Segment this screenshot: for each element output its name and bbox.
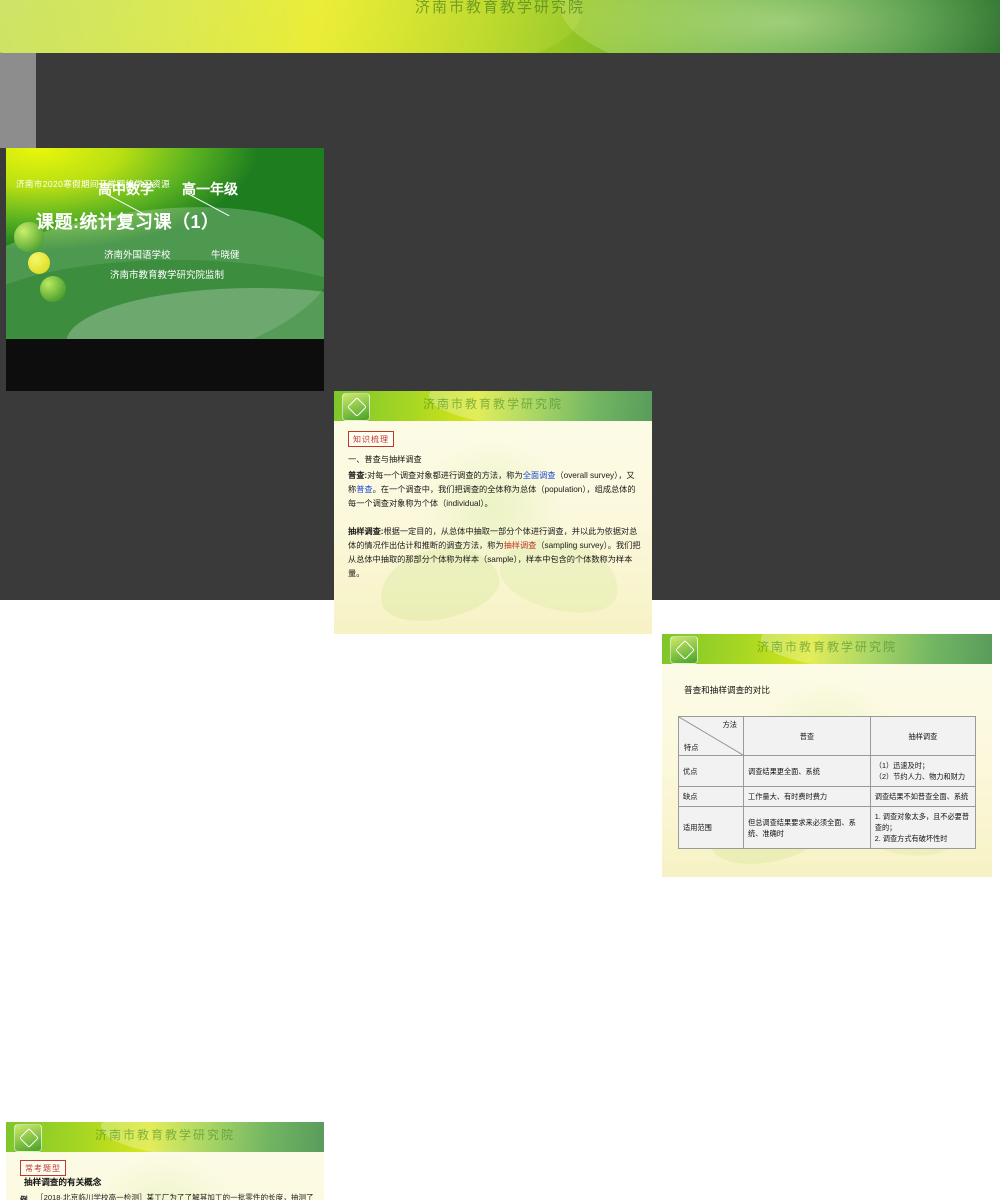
slide-thumbnail-4[interactable]: 济南市教育教学研究院 常考题型 抽样调查的有关概念 例 ［2018·北京临川学校… bbox=[6, 1122, 324, 1200]
slide3-logo-icon bbox=[670, 636, 698, 664]
workspace-strip bbox=[0, 53, 1000, 148]
slide4-section-tag: 常考题型 bbox=[20, 1160, 66, 1176]
slide1-subject: 高中数学 bbox=[98, 179, 154, 199]
top-banner: 济南市教育教学研究院 bbox=[0, 0, 1000, 53]
table-row: 适用范围 但总调查结果要求来必须全面、系统、准确时 1. 调查对象太多，且不必要… bbox=[679, 807, 976, 849]
slide2-heading: 一、普查与抽样调查 bbox=[348, 453, 640, 467]
slide-thumbnail-3[interactable]: 济南市教育教学研究院 普查和抽样调查的对比 方法 特点 普查 抽样调查 优点 调… bbox=[662, 634, 992, 877]
slide4-heading: 抽样调查的有关概念 bbox=[24, 1176, 101, 1188]
table-col-header-2: 抽样调查 bbox=[870, 717, 975, 756]
slide2-paragraph-1: 普查:对每一个调查对象都进行调查的方法，称为全面调查（overall surve… bbox=[348, 469, 642, 511]
slide1-author-name: 牛晓健 bbox=[211, 247, 240, 261]
slide2-p1-prefix: 普查: bbox=[348, 471, 367, 480]
table-cell-0-0: 调查结果更全面、系统 bbox=[744, 756, 871, 787]
slide3-comparison-table: 方法 特点 普查 抽样调查 优点 调查结果更全面、系统 （1）迅速及时； （2）… bbox=[678, 716, 976, 849]
slide3-brand-text: 济南市教育教学研究院 bbox=[662, 638, 992, 655]
table-corner-top-label: 方法 bbox=[723, 719, 737, 730]
workspace-left-gutter bbox=[0, 53, 36, 148]
slide1-footer-bar bbox=[6, 339, 324, 391]
slide2-top-bar: 济南市教育教学研究院 bbox=[334, 391, 652, 421]
table-row-label-0: 优点 bbox=[679, 756, 744, 787]
slide1-main-title: 课题:统计复习课（1） bbox=[36, 208, 220, 234]
slide2-paragraph-2: 抽样调查:根据一定目的，从总体中抽取一部分个体进行调查，并以此为依据对总体的情况… bbox=[348, 525, 642, 581]
slide1-circle-green-bottom bbox=[40, 276, 66, 302]
slide2-p1-a: 对每一个调查对象都进行调查的方法，称为 bbox=[367, 471, 523, 480]
table-row-label-2: 适用范围 bbox=[679, 807, 744, 849]
table-header-row: 方法 特点 普查 抽样调查 bbox=[679, 717, 976, 756]
slide2-logo-icon bbox=[342, 393, 370, 421]
table-corner-bottom-label: 特点 bbox=[684, 742, 698, 753]
slide-thumbnail-1[interactable]: 济南市2020寒假期间开学网络学习资源 高中数学 高一年级 课题:统计复习课（1… bbox=[6, 148, 324, 391]
table-cell-2-1: 1. 调查对象太多，且不必要普查的； 2. 调查方式有破坏性时 bbox=[870, 807, 975, 849]
table-row: 优点 调查结果更全面、系统 （1）迅速及时； （2）节约人力、物力和财力 bbox=[679, 756, 976, 787]
slide3-title: 普查和抽样调查的对比 bbox=[684, 684, 770, 697]
table-cell-1-1: 调查结果不如普查全面、系统 bbox=[870, 787, 975, 807]
slide1-author-school: 济南外国语学校 bbox=[104, 247, 171, 261]
slide1-grade: 高一年级 bbox=[182, 179, 238, 199]
table-row-label-1: 缺点 bbox=[679, 787, 744, 807]
slide2-p1-tail: 。在一个调查中，我们把调查的全体称为总体（population），组成总体的每一… bbox=[348, 485, 636, 508]
slide2-p2-prefix: 抽样调查: bbox=[348, 527, 383, 536]
slide2-p1-blue1: 全面调查 bbox=[523, 471, 556, 480]
slide-sorter-view: 济南市教育教学研究院 济南市2020寒假期间开学网络学习资源 高中数学 高一年级… bbox=[0, 0, 1000, 600]
table-cell-0-1: （1）迅速及时； （2）节约人力、物力和财力 bbox=[870, 756, 975, 787]
table-cell-2-0: 但总调查结果要求来必须全面、系统、准确时 bbox=[744, 807, 871, 849]
table-row: 缺点 工作量大、有时费时费力 调查结果不如普查全面、系统 bbox=[679, 787, 976, 807]
slide2-section-tag: 知识梳理 bbox=[348, 431, 394, 447]
table-col-header-1: 普查 bbox=[744, 717, 871, 756]
slide1-author-org: 济南市教育教学研究院监制 bbox=[110, 267, 224, 281]
slide4-example-label: 例 bbox=[20, 1194, 34, 1200]
slide3-top-bar: 济南市教育教学研究院 bbox=[662, 634, 992, 664]
slide2-p2-red: 抽样调查 bbox=[504, 541, 537, 550]
slide2-p1-blue2: 普查 bbox=[356, 485, 372, 494]
slide1-circle-yellow bbox=[28, 252, 50, 274]
slide4-logo-icon bbox=[14, 1124, 42, 1152]
slide2-brand-text: 济南市教育教学研究院 bbox=[334, 395, 652, 412]
slide-thumbnail-2[interactable]: 济南市教育教学研究院 知识梳理 一、普查与抽样调查 普查:对每一个调查对象都进行… bbox=[334, 391, 652, 634]
slide4-brand-text: 济南市教育教学研究院 bbox=[6, 1126, 324, 1143]
table-cell-1-0: 工作量大、有时费时费力 bbox=[744, 787, 871, 807]
slide4-question-body: ［2018·北京临川学校高一检测］某工厂为了了解其加工的一批零件的长度，抽测了其… bbox=[36, 1192, 314, 1200]
table-corner-cell: 方法 特点 bbox=[679, 717, 744, 756]
banner-title: 济南市教育教学研究院 bbox=[0, 0, 1000, 17]
